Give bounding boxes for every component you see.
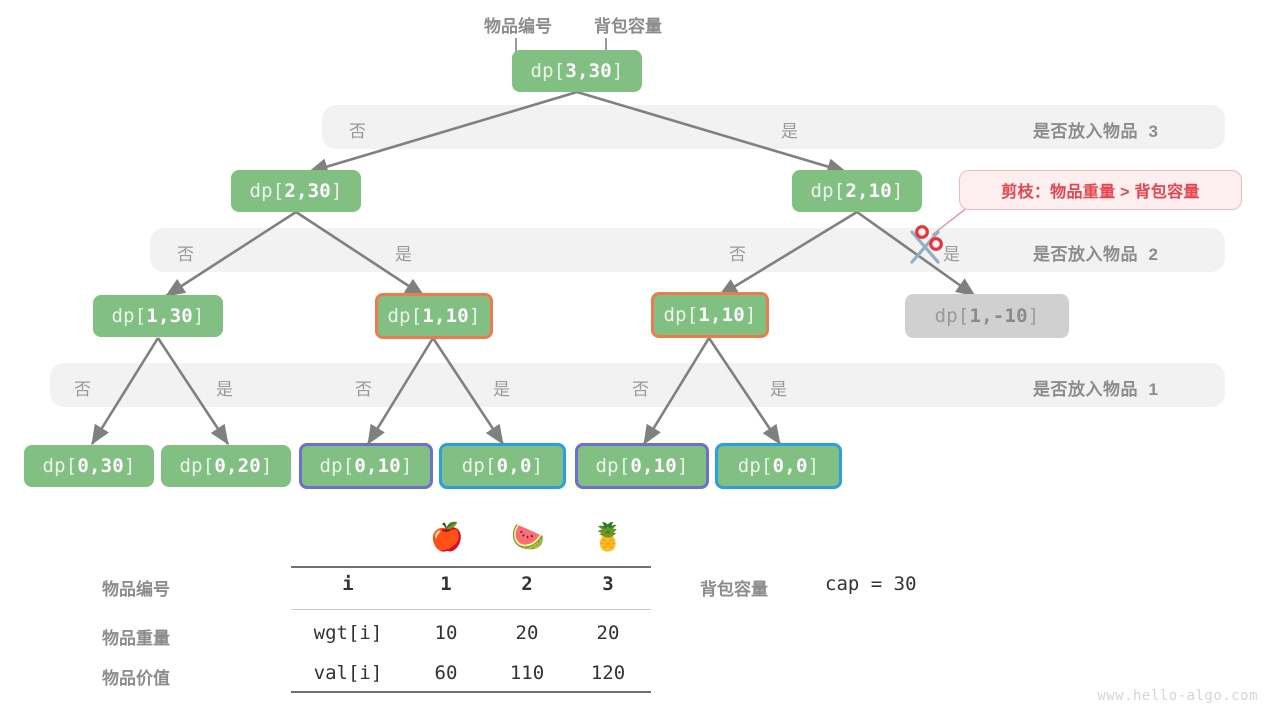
- table-cell-value-1: 60: [401, 662, 491, 684]
- items-table: 🍎 🍉 🍍 物品编号 i 1 2 3 物品重量 wgt[i] 10 20 20 …: [0, 512, 1280, 692]
- table-cell-value-2: 110: [482, 662, 572, 684]
- node-suffix: ]: [401, 455, 413, 477]
- node-prefix: dp[: [387, 305, 422, 327]
- table-cell-value-3: 120: [563, 662, 653, 684]
- node-suffix: ]: [1028, 305, 1040, 327]
- fruit-watermelon-icon: 🍉: [498, 524, 558, 551]
- table-cell-weight-2: 20: [482, 622, 572, 644]
- node-suffix: ]: [612, 60, 624, 82]
- node-suffix: ]: [745, 304, 757, 326]
- node-prefix: dp[: [462, 455, 497, 477]
- table-cell-index-1: 1: [401, 573, 491, 595]
- node-value: 1,10: [698, 304, 745, 326]
- node-suffix: ]: [124, 455, 136, 477]
- node-prefix: dp[: [249, 180, 284, 202]
- node-prefix: dp[: [111, 305, 146, 327]
- table-row-label-weight: 物品重量: [30, 624, 170, 649]
- table-cell-index-3: 3: [563, 573, 653, 595]
- tree-node-dp-3-30[interactable]: dp[3,30]: [512, 50, 642, 92]
- tree-node-dp-1-neg10-pruned[interactable]: dp[1,-10]: [905, 294, 1069, 338]
- node-suffix: ]: [892, 180, 904, 202]
- tree-node-dp-0-10-right[interactable]: dp[0,10]: [575, 443, 709, 489]
- fruit-pineapple-icon: 🍍: [578, 524, 638, 551]
- node-value: 0,0: [497, 455, 532, 477]
- table-rule-top: [291, 566, 651, 568]
- node-value: 1,10: [422, 305, 469, 327]
- node-value: 0,30: [77, 455, 124, 477]
- node-prefix: dp[: [530, 60, 565, 82]
- node-suffix: ]: [808, 455, 820, 477]
- node-value: 2,10: [845, 180, 892, 202]
- capacity-note-label: 背包容量: [700, 575, 768, 600]
- node-prefix: dp[: [935, 305, 970, 327]
- table-cell-weight-1: 10: [401, 622, 491, 644]
- pruning-callout: 剪枝：物品重量 > 背包容量: [959, 170, 1242, 210]
- table-cell-key-index: i: [298, 573, 398, 595]
- node-prefix: dp[: [810, 180, 845, 202]
- table-rule-bottom: [291, 691, 651, 693]
- node-value: 0,10: [630, 455, 677, 477]
- tree-node-dp-1-10-right[interactable]: dp[1,10]: [651, 292, 769, 338]
- tree-node-dp-0-20[interactable]: dp[0,20]: [161, 445, 291, 487]
- tree-node-dp-0-30[interactable]: dp[0,30]: [24, 445, 154, 487]
- capacity-note-value: cap = 30: [825, 573, 917, 595]
- tree-node-dp-2-30[interactable]: dp[2,30]: [231, 170, 361, 212]
- fruit-apple-icon: 🍎: [417, 524, 477, 551]
- node-value: 0,0: [773, 455, 808, 477]
- tree-node-dp-1-30[interactable]: dp[1,30]: [93, 295, 223, 337]
- node-suffix: ]: [677, 455, 689, 477]
- table-cell-weight-3: 20: [563, 622, 653, 644]
- node-value: 0,10: [354, 455, 401, 477]
- node-value: 1,30: [146, 305, 193, 327]
- table-row-label-index: 物品编号: [30, 575, 170, 600]
- node-prefix: dp[: [663, 304, 698, 326]
- table-rule-mid: [291, 609, 651, 610]
- node-prefix: dp[: [738, 455, 773, 477]
- node-suffix: ]: [193, 305, 205, 327]
- tree-node-dp-1-10-left[interactable]: dp[1,10]: [375, 293, 493, 339]
- tree-node-dp-2-10[interactable]: dp[2,10]: [792, 170, 922, 212]
- node-prefix: dp[: [595, 455, 630, 477]
- table-row-label-value: 物品价值: [30, 664, 170, 689]
- node-suffix: ]: [469, 305, 481, 327]
- node-value: 0,20: [214, 455, 261, 477]
- node-suffix: ]: [331, 180, 343, 202]
- node-prefix: dp[: [179, 455, 214, 477]
- site-watermark: www.hello-algo.com: [1097, 688, 1258, 704]
- node-suffix: ]: [261, 455, 273, 477]
- tree-node-dp-0-10-left[interactable]: dp[0,10]: [299, 443, 433, 489]
- tree-node-dp-0-0-left[interactable]: dp[0,0]: [439, 443, 566, 489]
- tree-node-dp-0-0-right[interactable]: dp[0,0]: [715, 443, 842, 489]
- node-prefix: dp[: [42, 455, 77, 477]
- node-value: 3,30: [565, 60, 612, 82]
- scissors-icon: [912, 227, 941, 262]
- table-cell-index-2: 2: [482, 573, 572, 595]
- table-cell-key-weight: wgt[i]: [298, 622, 398, 644]
- node-suffix: ]: [532, 455, 544, 477]
- node-prefix: dp[: [319, 455, 354, 477]
- table-cell-key-value: val[i]: [298, 662, 398, 684]
- diagram-canvas: 物品编号 背包容量 是否放入物品 3 是否放入物品 2 是否放入物品 1 否 是…: [0, 0, 1280, 720]
- node-value: 1,-10: [970, 305, 1028, 327]
- node-value: 2,30: [284, 180, 331, 202]
